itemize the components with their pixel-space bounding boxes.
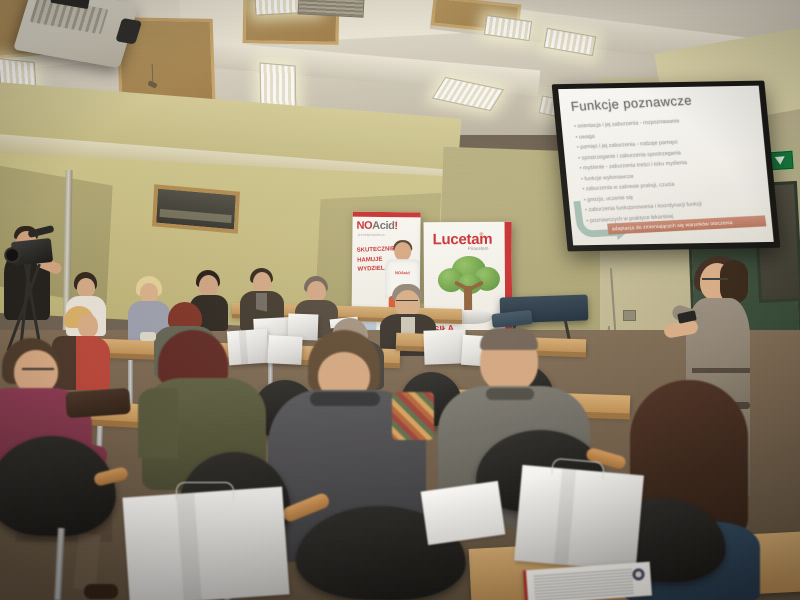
noacid-logo-mark: ! bbox=[394, 220, 397, 232]
video-camera bbox=[11, 238, 53, 266]
eyeglasses bbox=[396, 300, 418, 304]
bag-fold bbox=[554, 468, 576, 565]
noacid-logo-prefix: NO bbox=[356, 220, 372, 232]
brochure-text-lines bbox=[533, 567, 634, 600]
lucetam-subtitle: Piracetam bbox=[468, 246, 489, 251]
collar bbox=[486, 388, 534, 400]
gift-bag bbox=[514, 465, 644, 571]
clerestory-window bbox=[152, 184, 240, 233]
presenter-eyeglasses bbox=[702, 278, 728, 283]
head bbox=[307, 281, 326, 302]
head bbox=[78, 314, 98, 338]
wall-socket bbox=[623, 310, 636, 321]
bag-fold bbox=[239, 330, 248, 364]
collar bbox=[310, 392, 380, 406]
presenter-trim bbox=[692, 368, 750, 373]
tree-trunk bbox=[464, 286, 472, 313]
hair bbox=[168, 302, 202, 328]
head bbox=[77, 278, 95, 298]
noacid-logo: NOAcid! bbox=[356, 220, 397, 232]
screen-surface: Funkcje poznawcze orientacja i jej zabur… bbox=[558, 86, 774, 246]
conference-photograph: Funkcje poznawcze orientacja i jej zabur… bbox=[0, 0, 800, 600]
model-shirt-logo: NOAcid bbox=[395, 270, 410, 275]
hair bbox=[480, 328, 538, 350]
head bbox=[253, 272, 271, 293]
bag-handle bbox=[176, 482, 234, 501]
cup-on-desk bbox=[140, 332, 156, 341]
bag-fold bbox=[176, 493, 201, 600]
gift-bag bbox=[267, 335, 302, 365]
head bbox=[140, 283, 158, 303]
slide-banner-text: adaptacja do zmieniających się warunków … bbox=[611, 220, 732, 232]
shoe bbox=[84, 584, 118, 599]
exit-arrow-down-icon bbox=[774, 156, 785, 165]
patterned-bag bbox=[392, 392, 434, 440]
handbag bbox=[65, 388, 131, 418]
noacid-top-bar bbox=[353, 212, 421, 218]
brochure-seal bbox=[632, 568, 645, 581]
gift-bag bbox=[122, 487, 289, 600]
gift-bag bbox=[227, 329, 269, 366]
noacid-logo-suffix: Acid bbox=[372, 220, 394, 232]
papers-foreground bbox=[421, 481, 506, 545]
gift-bag bbox=[423, 329, 466, 364]
head bbox=[199, 275, 218, 297]
projection-screen: Funkcje poznawcze orientacja i jej zabur… bbox=[552, 81, 781, 252]
eyeglasses bbox=[22, 368, 54, 373]
slide-title: Funkcje poznawcze bbox=[570, 93, 693, 114]
coat-shoulder bbox=[138, 388, 178, 458]
noacid-subtitle: pantoprazolum bbox=[358, 233, 384, 237]
lucetam-trademark: ® bbox=[480, 232, 484, 238]
